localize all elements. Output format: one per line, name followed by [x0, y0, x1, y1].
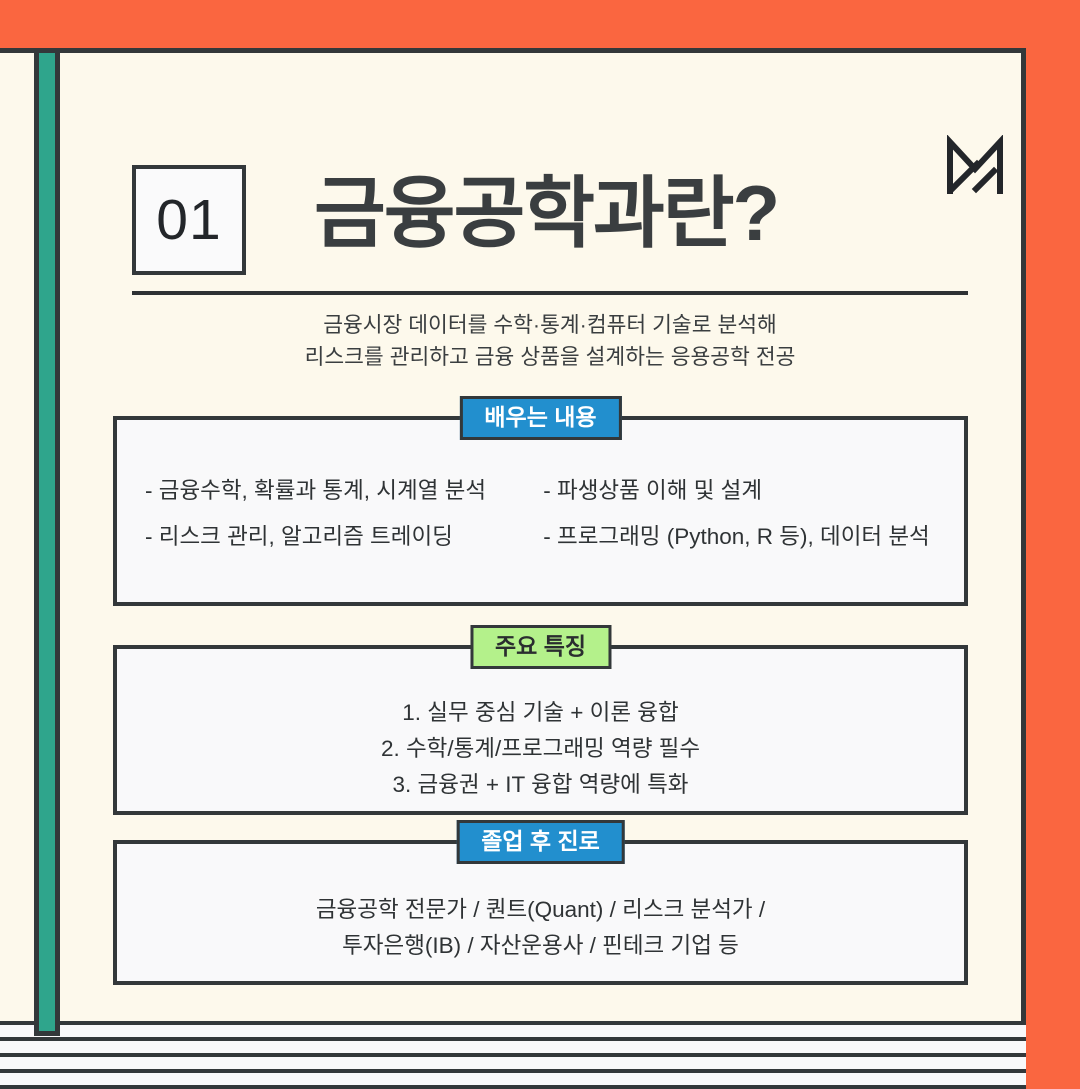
subtitle-line-1: 금융시장 데이터를 수학·통계·컴퓨터 기술로 분석해 [132, 309, 968, 341]
bottom-stripe-decoration [0, 1021, 1026, 1089]
curriculum-row: - 리스크 관리, 알고리즘 트레이딩 - 프로그래밍 (Python, R 등… [117, 514, 964, 560]
stripe-line [0, 1069, 1026, 1073]
section-features-chip: 주요 특징 [470, 625, 611, 669]
curriculum-rows: - 금융수학, 확률과 통계, 시계열 분석 - 파생상품 이해 및 설계 - … [117, 468, 964, 560]
m-monogram-logo-icon [944, 135, 1006, 197]
list-item: 1. 실무 중심 기술 + 이론 융합 [117, 695, 964, 731]
step-number-badge: 01 [132, 165, 246, 275]
list-item: 2. 수학/통계/프로그래밍 역량 필수 [117, 731, 964, 767]
subtitle-line-2: 리스크를 관리하고 금융 상품을 설계하는 응용공학 전공 [132, 341, 968, 373]
stripe-line [0, 1021, 1026, 1025]
subtitle: 금융시장 데이터를 수학·통계·컴퓨터 기술로 분석해 리스크를 관리하고 금융… [132, 309, 968, 373]
careers-line-2: 투자은행(IB) / 자산운용사 / 핀테크 기업 등 [117, 928, 964, 964]
card-panel: 01 금융공학과란? 금융시장 데이터를 수학·통계·컴퓨터 기술로 분석해 리… [0, 48, 1026, 1036]
curriculum-row-right: - 파생상품 이해 및 설계 [543, 468, 762, 514]
header: 01 금융공학과란? [132, 165, 968, 277]
features-list: 1. 실무 중심 기술 + 이론 융합 2. 수학/통계/프로그래밍 역량 필수… [117, 695, 964, 803]
section-curriculum-chip: 배우는 내용 [459, 396, 621, 440]
curriculum-row-left: - 금융수학, 확률과 통계, 시계열 분석 [117, 468, 537, 514]
section-careers-chip: 졸업 후 진로 [456, 820, 625, 864]
section-curriculum-box: - 금융수학, 확률과 통계, 시계열 분석 - 파생상품 이해 및 설계 - … [113, 416, 968, 606]
curriculum-row-left: - 리스크 관리, 알고리즘 트레이딩 [117, 514, 537, 560]
careers-line-1: 금융공학 전문가 / 퀀트(Quant) / 리스크 분석가 / [117, 892, 964, 928]
stripe-line [0, 1053, 1026, 1057]
step-number-text: 01 [156, 192, 221, 249]
list-item: 3. 금융권 + IT 융합 역량에 특화 [117, 767, 964, 803]
page-title: 금융공학과란? [314, 157, 778, 269]
careers-text: 금융공학 전문가 / 퀀트(Quant) / 리스크 분석가 / 투자은행(IB… [117, 892, 964, 964]
header-divider [132, 291, 968, 295]
section-features-box: 1. 실무 중심 기술 + 이론 융합 2. 수학/통계/프로그래밍 역량 필수… [113, 645, 968, 815]
curriculum-row: - 금융수학, 확률과 통계, 시계열 분석 - 파생상품 이해 및 설계 [117, 468, 964, 514]
curriculum-row-right: - 프로그래밍 (Python, R 등), 데이터 분석 [543, 514, 930, 560]
stripe-line [0, 1085, 1026, 1089]
teal-accent-bar [34, 48, 60, 1036]
stripe-line [0, 1037, 1026, 1041]
